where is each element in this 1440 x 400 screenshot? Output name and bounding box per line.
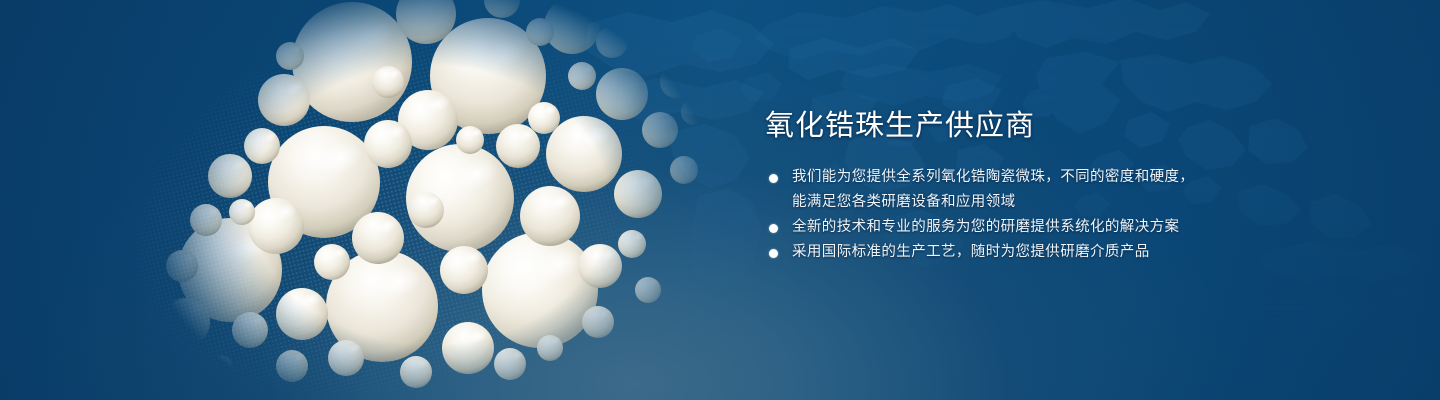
bullet-dot-icon xyxy=(769,224,778,233)
list-item: 我们能为您提供全系列氧化锆陶瓷微珠，不同的密度和硬度， 能满足您各类研磨设备和应… xyxy=(765,165,1225,215)
bullet-dot-icon xyxy=(769,249,778,258)
page-title: 氧化锆珠生产供应商 xyxy=(765,108,1225,144)
bullet-line: 我们能为您提供全系列氧化锆陶瓷微珠，不同的密度和硬度， xyxy=(792,165,1225,190)
bullet-dot-icon xyxy=(769,174,778,183)
bullet-line: 全新的技术和专业的服务为您的研磨提供系统化的解决方案 xyxy=(792,215,1225,240)
list-item: 采用国际标准的生产工艺，随时为您提供研磨介质产品 xyxy=(765,240,1225,265)
hero-banner: 氧化锆珠生产供应商 我们能为您提供全系列氧化锆陶瓷微珠，不同的密度和硬度， 能满… xyxy=(0,0,1440,400)
bullet-line: 采用国际标准的生产工艺，随时为您提供研磨介质产品 xyxy=(792,240,1225,265)
zirconia-beads-photo xyxy=(120,0,740,400)
bullet-line: 能满足您各类研磨设备和应用领域 xyxy=(792,190,1225,215)
list-item: 全新的技术和专业的服务为您的研磨提供系统化的解决方案 xyxy=(765,215,1225,240)
feature-bullet-list: 我们能为您提供全系列氧化锆陶瓷微珠，不同的密度和硬度， 能满足您各类研磨设备和应… xyxy=(765,165,1225,265)
banner-copy: 氧化锆珠生产供应商 我们能为您提供全系列氧化锆陶瓷微珠，不同的密度和硬度， 能满… xyxy=(765,108,1225,265)
